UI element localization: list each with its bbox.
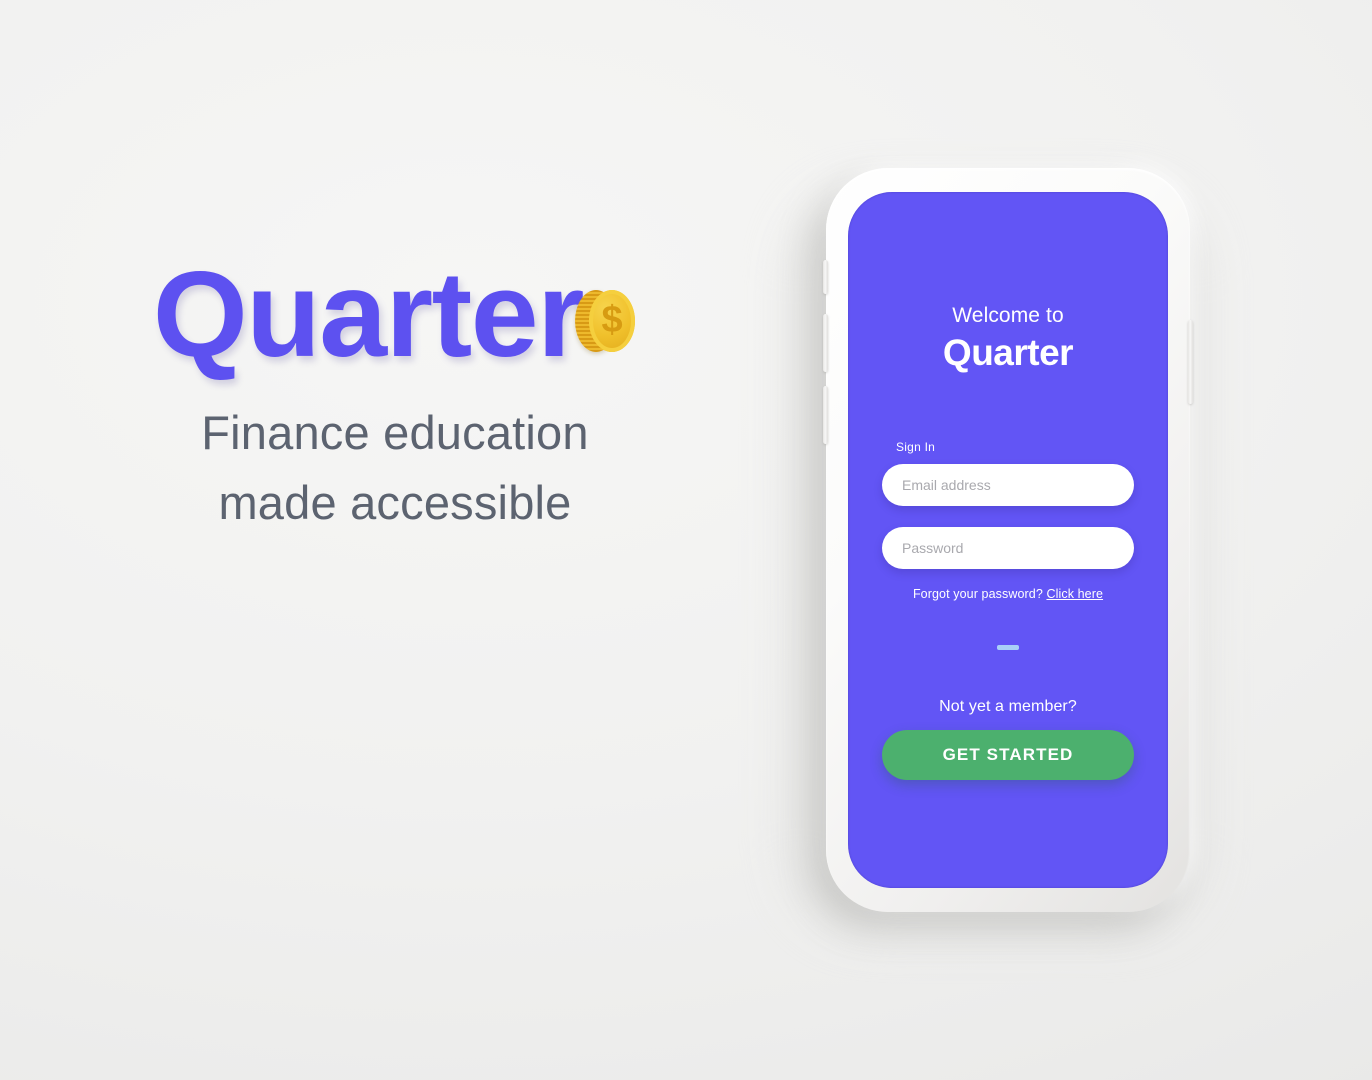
- tagline-line-2: made accessible: [0, 468, 790, 538]
- brand-block: Quarter $ Finance education made accessi…: [0, 248, 790, 537]
- welcome-text: Welcome to: [848, 304, 1168, 328]
- forgot-password-link[interactable]: Click here: [1046, 587, 1103, 601]
- forgot-password-text: Forgot your password?: [913, 587, 1043, 601]
- volume-down-button[interactable]: [823, 386, 828, 444]
- signup-section: Not yet a member? GET STARTED: [848, 698, 1168, 780]
- power-button[interactable]: [1188, 320, 1193, 404]
- section-divider: [997, 645, 1019, 650]
- coin-face: $: [589, 290, 635, 352]
- coin-dollar-icon: $: [575, 286, 637, 356]
- app-title: Quarter: [848, 332, 1168, 374]
- password-input[interactable]: [882, 527, 1134, 569]
- brand-tagline: Finance education made accessible: [0, 398, 790, 537]
- forgot-password-row: Forgot your password? Click here: [882, 587, 1134, 601]
- tagline-line-1: Finance education: [0, 398, 790, 468]
- dollar-sign: $: [602, 301, 623, 339]
- app-header: Welcome to Quarter: [848, 192, 1168, 374]
- sign-in-form: Sign In Forgot your password? Click here: [848, 440, 1168, 601]
- email-input[interactable]: [882, 464, 1134, 506]
- sign-in-label: Sign In: [896, 440, 1134, 454]
- volume-up-button[interactable]: [823, 314, 828, 372]
- signup-prompt: Not yet a member?: [882, 698, 1134, 716]
- brand-logo: Quarter $: [0, 248, 790, 380]
- silent-switch[interactable]: [823, 260, 828, 294]
- phone-mockup: Welcome to Quarter Sign In Forgot your p…: [826, 168, 1190, 912]
- get-started-button[interactable]: GET STARTED: [882, 730, 1134, 780]
- divider-wrap: [848, 645, 1168, 650]
- brand-wordmark: Quarter: [153, 253, 583, 375]
- phone-screen: Welcome to Quarter Sign In Forgot your p…: [848, 192, 1168, 888]
